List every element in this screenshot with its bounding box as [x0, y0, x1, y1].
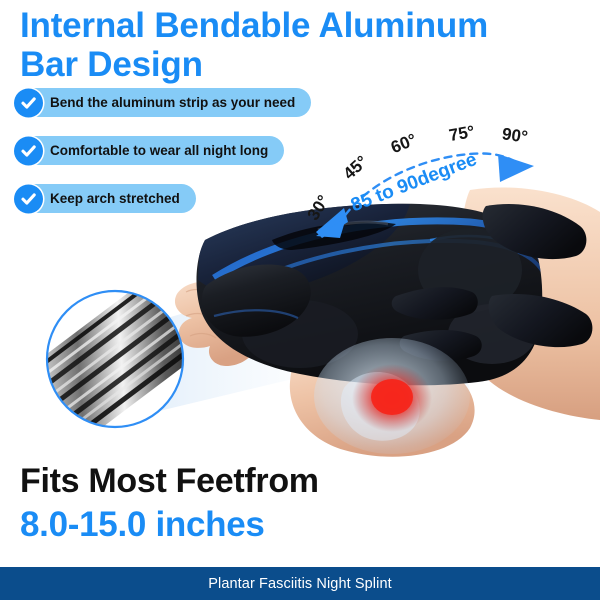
feature-list: Bend the aluminum strip as your need Com… [14, 88, 311, 213]
fits-headline: Fits Most Feetfrom [20, 462, 319, 501]
check-icon [14, 88, 43, 117]
feature-label: Keep arch stretched [50, 191, 180, 206]
aluminum-bar-magnifier [44, 288, 186, 430]
footer-bar: Plantar Fasciitis Night Splint [0, 567, 600, 600]
page-title: Internal Bendable Aluminum Bar Design [20, 6, 580, 84]
product-infographic: Internal Bendable Aluminum Bar Design Be… [0, 0, 600, 600]
size-range: 8.0-15.0 inches [20, 505, 265, 545]
feature-label: Bend the aluminum strip as your need [50, 95, 295, 110]
feature-item-1: Bend the aluminum strip as your need [14, 88, 311, 117]
check-icon [14, 184, 43, 213]
feature-item-3: Keep arch stretched [14, 184, 196, 213]
footer-title: Plantar Fasciitis Night Splint [208, 576, 392, 592]
feature-label: Comfortable to wear all night long [50, 143, 268, 158]
check-icon [14, 136, 43, 165]
feature-item-2: Comfortable to wear all night long [14, 136, 284, 165]
pain-indicator [314, 338, 470, 454]
